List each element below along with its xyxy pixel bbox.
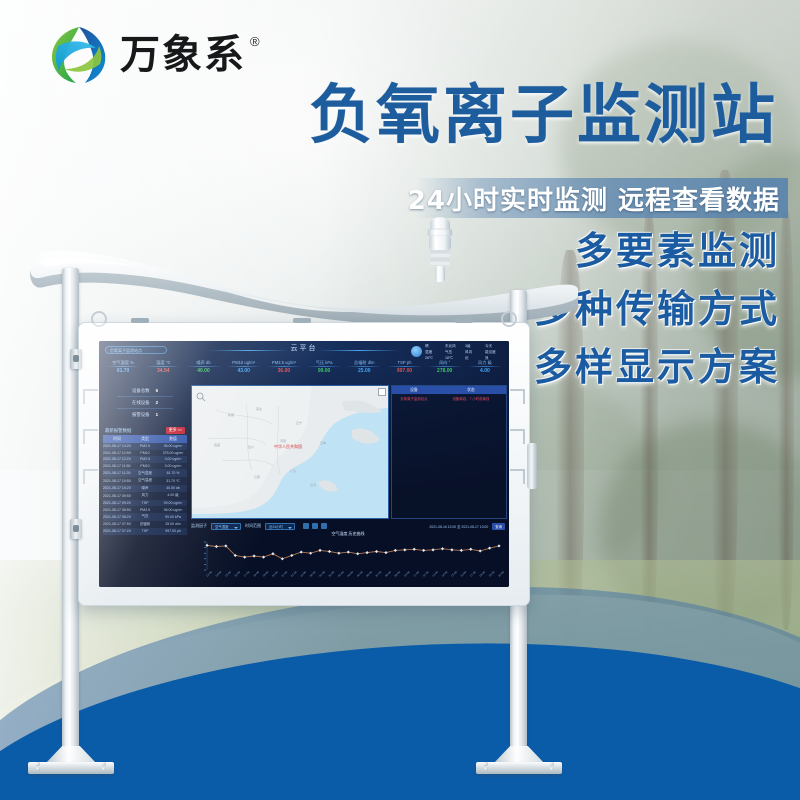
factor-label: 监测因子 xyxy=(191,523,207,529)
table-row[interactable]: 2021-08-17 12:50:01PM10375.00 ug/m³ xyxy=(103,450,187,457)
table-cell: PM2.5 xyxy=(131,456,159,463)
cabinet-latch[interactable] xyxy=(527,443,537,489)
svg-text:01:00: 01:00 xyxy=(319,571,326,578)
history-line-chart: 空气湿度 历史曲线 13:0014:0015:0016:0017:0018:00… xyxy=(191,531,505,583)
svg-text:四川: 四川 xyxy=(248,445,254,449)
metric-card: 噪声 db 40.00 xyxy=(183,359,223,381)
stat-row: 设备总数 5 xyxy=(103,385,187,396)
column-header: 数值 xyxy=(159,435,187,443)
weather-cell: 风向 xyxy=(465,350,483,355)
line-chart-icon[interactable] xyxy=(303,523,309,529)
metric-card: 总辐射 dlm 25.00 xyxy=(344,359,384,381)
metric-card: 空气湿度 % 61.70 xyxy=(103,359,143,381)
table-row[interactable]: 2021-08-17 08:20:01气压99.00 kPa xyxy=(103,513,187,521)
metric-card: PM10 ug/m³ 43.00 xyxy=(224,359,264,381)
svg-text:19:00: 19:00 xyxy=(262,571,269,578)
table-cell: 总辐射 xyxy=(131,521,159,529)
table-cell: 2021-08-17 12:20:01 xyxy=(103,456,131,463)
table-cell: 2021-08-17 10:20:01 xyxy=(103,485,131,493)
table-icon[interactable] xyxy=(321,523,327,529)
svg-text:13:00: 13:00 xyxy=(432,571,439,578)
svg-text:新疆: 新疆 xyxy=(228,412,234,417)
table-cell: 2021-08-17 08:20:01 xyxy=(103,513,131,521)
monitoring-station-product: 云平台 负氧离子监测站点 晴 东北风 3级 今天 湿度 气压 xyxy=(0,0,800,800)
corner-bracket xyxy=(83,429,98,444)
metric-value: 278.00 xyxy=(425,367,465,376)
metric-label: 温度 ℃ xyxy=(143,359,183,366)
anchor-bolt xyxy=(484,767,488,771)
stat-row: 在线设备 2 xyxy=(103,397,187,408)
weather-cell: 今天 xyxy=(485,344,503,349)
table-cell: 2021-08-17 07:20:01 xyxy=(103,528,131,535)
svg-text:河南: 河南 xyxy=(280,438,286,443)
zoom-in-icon[interactable] xyxy=(378,388,386,396)
weather-cell: 湿度 xyxy=(425,350,443,355)
svg-text:西藏: 西藏 xyxy=(214,442,220,447)
metric-value: 34.54 xyxy=(143,367,183,376)
wave-canopy xyxy=(24,243,580,321)
table-row[interactable]: 2021-08-17 12:20:01PM2.53.00 ug/m³ xyxy=(103,456,187,463)
svg-text:广东: 广东 xyxy=(290,468,296,473)
table-cell: 2021-08-17 11:50:01 xyxy=(103,463,131,470)
table-row[interactable]: 2021-08-17 11:50:01PM103.00 ug/m³ xyxy=(103,463,187,470)
svg-text:14:00: 14:00 xyxy=(215,571,222,578)
alarm-table: 时间 类型 数值 2021-08-17 13:20:01PM2.536.00 u… xyxy=(103,435,187,535)
anchor-bolt xyxy=(484,762,488,766)
corner-bracket xyxy=(510,389,525,404)
metric-card: 温度 ℃ 34.54 xyxy=(143,359,183,381)
display-cabinet: 云平台 负氧离子监测站点 晴 东北风 3级 今天 湿度 气压 xyxy=(78,322,530,606)
metric-card: 风向 ° 278.00 xyxy=(425,359,465,381)
alarm-table-body: 2021-08-17 13:20:01PM2.536.00 ug/m³2021-… xyxy=(103,443,187,535)
svg-text:台湾: 台湾 xyxy=(310,482,316,487)
table-cell: 气压 xyxy=(131,513,159,521)
anchor-bolt xyxy=(550,762,554,766)
svg-text:日本: 日本 xyxy=(320,440,326,445)
cabinet-eyelet-left xyxy=(91,311,107,327)
table-cell: 997.00 ph xyxy=(159,528,187,535)
cabinet-tab xyxy=(131,318,149,323)
hinge-pin xyxy=(73,355,79,362)
device-status-panel: 设备 状态 负氧离子监测站点 设备离线，7 小时前离线 xyxy=(391,385,507,519)
range-label: 时间范围 xyxy=(245,523,261,529)
table-row[interactable]: 2021-08-17 10:20:01噪声40.00 db xyxy=(103,485,187,493)
svg-text:蒙古: 蒙古 xyxy=(256,406,262,411)
alarm-more-badge[interactable]: 更多 >> xyxy=(166,427,185,434)
table-cell: 空气湿度 xyxy=(131,469,159,477)
svg-text:辽宁: 辽宁 xyxy=(296,420,302,425)
svg-text:15:00: 15:00 xyxy=(225,571,232,578)
factor-select[interactable]: 空气湿度 xyxy=(211,523,241,530)
metric-label: PM2.5 ug/m³ xyxy=(264,359,304,366)
svg-text:14:00: 14:00 xyxy=(441,571,448,578)
anchor-bolt xyxy=(550,767,554,771)
date-range-group: 2021-08-16 13:00 至 2021-08-17 13:00 查询 xyxy=(429,523,505,530)
table-cell: 375.00 ug/m³ xyxy=(159,450,187,457)
hinge-pin xyxy=(73,525,79,532)
metric-label: 风向 ° xyxy=(425,359,465,366)
metric-label: 噪声 db xyxy=(183,359,223,366)
table-cell: 2021-08-17 10:50:01 xyxy=(103,477,131,485)
svg-text:13:00: 13:00 xyxy=(206,571,213,578)
weather-cell: 晴 xyxy=(425,344,443,349)
svg-text:18:00: 18:00 xyxy=(479,571,486,578)
svg-text:17:00: 17:00 xyxy=(243,571,250,578)
table-row[interactable]: 2021-08-17 08:50:01PM2.536.00 ug/m³ xyxy=(103,506,187,513)
anchor-bolt xyxy=(36,767,40,771)
metric-label: 风力 级 xyxy=(465,359,505,366)
stat-label: 报警设备 xyxy=(132,412,150,418)
site-selector[interactable]: 负氧离子监测站点 xyxy=(105,346,167,354)
chart-toolbar: 监测因子 空气湿度 时间范围 近24小时 2021-08-16 13:00 至 … xyxy=(191,521,505,531)
bar-chart-icon[interactable] xyxy=(312,523,318,529)
lcd-screen: 云平台 负氧离子监测站点 晴 东北风 3级 今天 湿度 气压 xyxy=(99,341,509,587)
query-button[interactable]: 查询 xyxy=(492,523,505,530)
table-cell: PM2.5 xyxy=(131,506,159,513)
weather-cell: 东北风 xyxy=(445,344,463,349)
table-row[interactable]: 2021-08-17 09:50:01风力4.00 级 xyxy=(103,492,187,500)
svg-text:16:00: 16:00 xyxy=(460,571,467,578)
table-cell: 31.70 ℃ xyxy=(159,477,187,485)
base-plate-right xyxy=(476,748,562,774)
metric-value: 43.00 xyxy=(224,367,264,376)
svg-text:09:00: 09:00 xyxy=(394,571,401,578)
table-cell: 3.00 ug/m³ xyxy=(159,456,187,463)
table-cell: 风力 xyxy=(131,492,159,500)
cabinet-eyelet-right xyxy=(501,311,517,327)
metric-label: 总辐射 dlm xyxy=(344,359,384,366)
table-cell: 2021-08-17 11:20:01 xyxy=(103,469,131,477)
table-row[interactable]: 2021-08-17 07:50:01总辐射25.00 dlm xyxy=(103,521,187,529)
svg-text:15:00: 15:00 xyxy=(451,571,458,578)
metric-card: 风力 级 4.00 xyxy=(465,359,505,381)
table-cell: 2021-08-17 13:20:01 xyxy=(103,443,131,450)
metric-value: 997.00 xyxy=(384,367,424,376)
svg-text:21:00: 21:00 xyxy=(281,571,288,578)
table-cell: 2021-08-17 09:50:01 xyxy=(103,492,131,500)
device-table-header: 设备 状态 xyxy=(392,386,506,394)
metric-value: 99.00 xyxy=(304,367,344,376)
metric-card: 气压 kPa 99.00 xyxy=(304,359,344,381)
table-cell: 2021-08-17 07:50:01 xyxy=(103,521,131,529)
table-cell: PM10 xyxy=(131,463,159,470)
date-range-text: 2021-08-16 13:00 至 2021-08-17 13:00 xyxy=(429,524,488,529)
svg-text:02:00: 02:00 xyxy=(328,571,335,578)
svg-text:中华人民共和国: 中华人民共和国 xyxy=(274,443,302,449)
svg-text:08:00: 08:00 xyxy=(385,571,392,578)
svg-text:07:00: 07:00 xyxy=(375,571,382,578)
china-map[interactable]: 新疆蒙古 西藏四川 河南辽宁 云南广东 日本台湾 中华人民共和国 xyxy=(191,385,389,519)
metric-value: 36.00 xyxy=(264,367,304,376)
range-select[interactable]: 近24小时 xyxy=(265,523,295,530)
promo-banner: 万象系 ® 负氧离子监测站 24小时实时监测 远程查看数据 多要素监测 多种传输… xyxy=(0,0,800,800)
stat-label: 在线设备 xyxy=(132,400,150,406)
corner-bracket xyxy=(510,469,525,484)
column-header: 类型 xyxy=(131,435,159,443)
table-row[interactable]: 2021-08-17 10:50:01空气温度31.70 ℃ xyxy=(103,477,187,485)
ultrasonic-weather-sensor-icon xyxy=(418,210,462,282)
metric-card: TSP ph 997.00 xyxy=(384,359,424,381)
alarm-panel-header: 最新报警数据 更多 >> xyxy=(103,426,187,435)
left-panel: 设备总数 5 在线设备 2 报警设备 1 xyxy=(103,385,187,561)
metric-value: 61.70 xyxy=(103,367,143,376)
svg-text:04:00: 04:00 xyxy=(347,571,354,578)
metric-label: 气压 kPa xyxy=(304,359,344,366)
table-cell: PM2.5 xyxy=(131,443,159,450)
column-header: 时间 xyxy=(103,435,131,443)
cabinet-hinge-top xyxy=(70,349,82,369)
svg-text:19:00: 19:00 xyxy=(488,571,495,578)
svg-text:20:00: 20:00 xyxy=(498,571,505,578)
anchor-bolt xyxy=(102,767,106,771)
sun-cloud-icon xyxy=(411,346,422,357)
table-row[interactable]: 2021-08-17 07:20:01TSP997.00 ph xyxy=(103,528,187,535)
metric-strip: 空气湿度 % 61.70 温度 ℃ 34.54 噪声 db 40. xyxy=(103,359,505,381)
table-cell: 36.00 ug/m³ xyxy=(159,506,187,513)
table-cell: PM10 xyxy=(131,450,159,457)
table-cell: 3.00 ug/m³ xyxy=(159,463,187,470)
anchor-bolt xyxy=(102,762,106,766)
svg-text:20:00: 20:00 xyxy=(272,571,279,578)
table-cell: 36.00 ug/m³ xyxy=(159,443,187,450)
metric-label: PM10 ug/m³ xyxy=(224,359,264,366)
svg-text:05:00: 05:00 xyxy=(356,571,363,578)
corner-bracket xyxy=(83,389,98,404)
stat-value: 2 xyxy=(156,400,158,405)
stat-row: 报警设备 1 xyxy=(103,409,187,420)
table-cell: 2021-08-17 08:50:01 xyxy=(103,506,131,513)
metric-label: TSP ph xyxy=(384,359,424,366)
stat-value: 1 xyxy=(156,412,158,417)
svg-text:00:00: 00:00 xyxy=(309,571,316,578)
stat-value: 5 xyxy=(156,388,158,393)
svg-text:云南: 云南 xyxy=(254,474,260,479)
device-table-row: 负氧离子监测站点 设备离线，7 小时前离线 xyxy=(392,394,506,402)
svg-text:12:00: 12:00 xyxy=(422,571,429,578)
metric-value: 25.00 xyxy=(344,367,384,376)
table-cell: 2021-08-17 09:20:01 xyxy=(103,500,131,507)
column-header: 状态 xyxy=(436,386,506,394)
table-cell: 40.00 db xyxy=(159,485,187,493)
support-post-left xyxy=(62,268,79,756)
svg-text:16:00: 16:00 xyxy=(234,571,241,578)
table-cell: 4.00 级 xyxy=(159,492,187,500)
table-row[interactable]: 2021-08-17 09:20:01TSP99.00 ug/m³ xyxy=(103,500,187,507)
cloud-platform-dashboard: 云平台 负氧离子监测站点 晴 东北风 3级 今天 湿度 气压 xyxy=(99,341,509,587)
stat-label: 设备总数 xyxy=(132,388,150,394)
svg-text:22:00: 22:00 xyxy=(290,571,297,578)
metric-label: 空气湿度 % xyxy=(103,359,143,366)
table-cell: 空气温度 xyxy=(131,477,159,485)
svg-text:11:00: 11:00 xyxy=(413,571,420,578)
cabinet-tab xyxy=(455,318,473,323)
table-row[interactable]: 2021-08-17 11:20:01空气湿度61.70 % xyxy=(103,469,187,477)
table-cell: TSP xyxy=(131,500,159,507)
weather-cell: 3级 xyxy=(465,344,483,349)
alarm-panel-title: 最新报警数据 xyxy=(105,428,131,434)
svg-text:23:00: 23:00 xyxy=(300,571,307,578)
cabinet-hinge-bottom xyxy=(70,519,82,539)
table-cell: 99.00 kPa xyxy=(159,513,187,521)
table-cell: 61.70 % xyxy=(159,469,187,477)
base-plate-left xyxy=(28,748,114,774)
chart-type-icons xyxy=(303,523,327,529)
corner-bracket xyxy=(510,429,525,444)
svg-text:10:00: 10:00 xyxy=(403,571,410,578)
anchor-bolt xyxy=(36,762,40,766)
svg-text:03:00: 03:00 xyxy=(338,571,345,578)
table-cell: 99.00 ug/m³ xyxy=(159,500,187,507)
weather-cell: 气压 xyxy=(445,350,463,355)
table-header-row: 时间 类型 数值 xyxy=(103,435,187,443)
table-cell: TSP xyxy=(131,528,159,535)
table-row[interactable]: 2021-08-17 13:20:01PM2.536.00 ug/m³ xyxy=(103,443,187,450)
table-cell: 噪声 xyxy=(131,485,159,493)
device-status: 设备离线，7 小时前离线 xyxy=(436,394,506,402)
device-name: 负氧离子监测站点 xyxy=(392,394,436,402)
weather-cell: 能见度 xyxy=(485,350,503,355)
svg-text:18:00: 18:00 xyxy=(253,571,260,578)
svg-text:06:00: 06:00 xyxy=(366,571,373,578)
table-cell: 25.00 dlm xyxy=(159,521,187,529)
cabinet-tab xyxy=(293,318,311,323)
svg-text:17:00: 17:00 xyxy=(469,571,476,578)
metric-value: 4.00 xyxy=(465,367,505,376)
table-cell: 2021-08-17 12:50:01 xyxy=(103,450,131,457)
metric-card: PM2.5 ug/m³ 36.00 xyxy=(264,359,304,381)
column-header: 设备 xyxy=(392,386,436,394)
metric-value: 40.00 xyxy=(183,367,223,376)
corner-bracket xyxy=(83,469,98,484)
